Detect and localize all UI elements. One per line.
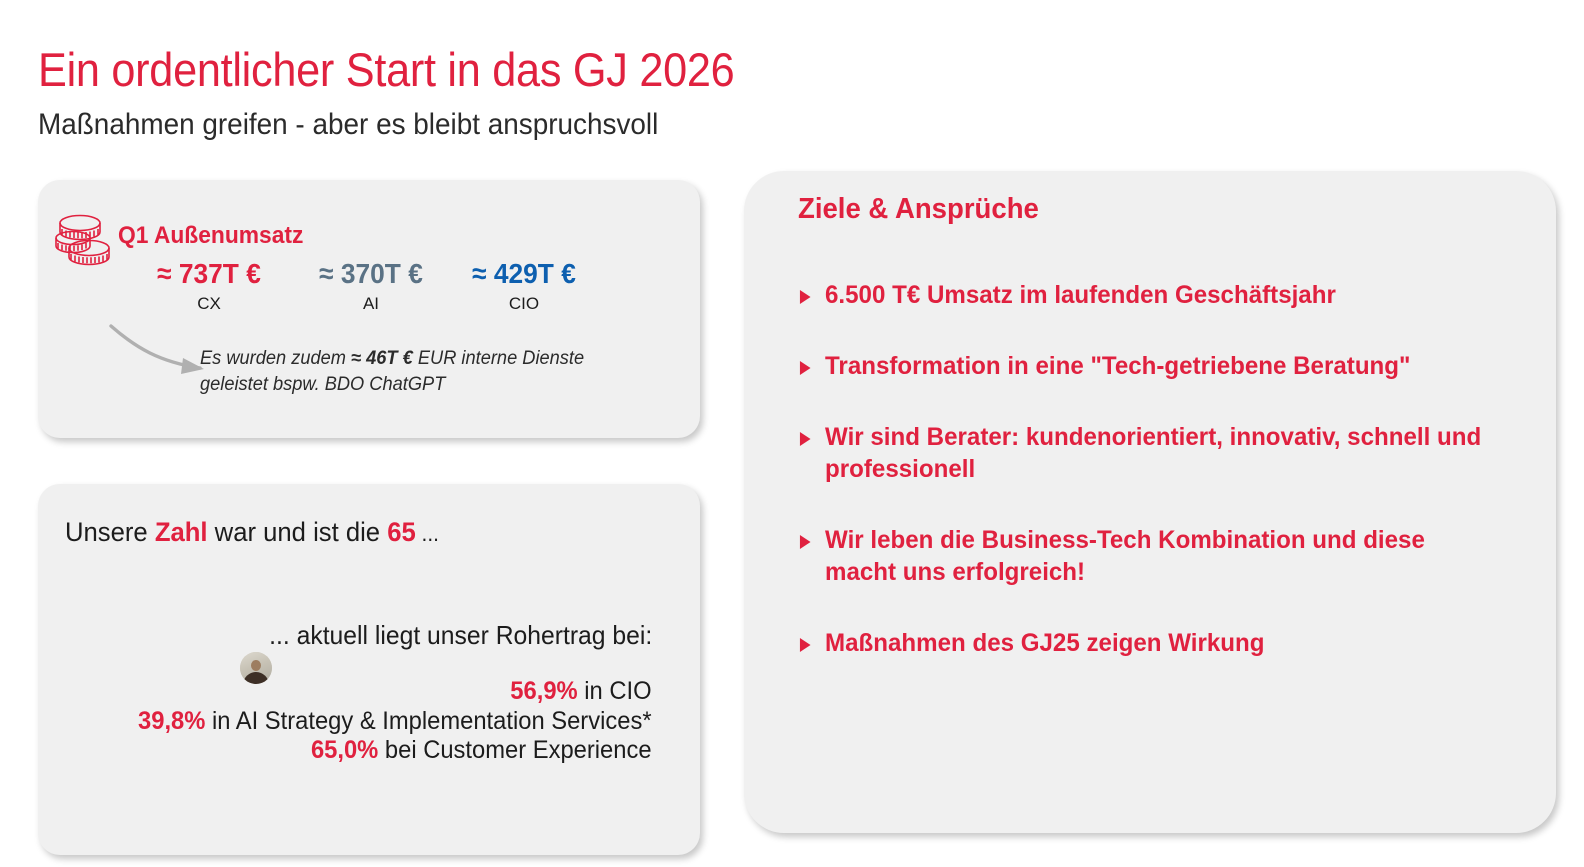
page-subtitle: Maßnahmen greifen - aber es bleibt anspr… [38,108,658,141]
number-statement-accent-65: 65 [387,517,416,547]
rohertrag-pct-cio: 56,9% [511,677,578,705]
triangle-bullet-icon [800,535,811,549]
rohertrag-lead: ... aktuell liegt unser Rohertrag bei: [269,620,652,651]
number-statement-part1: Unsere [65,517,155,547]
number-statement: Unsere Zahl war und ist die 65 ... [65,517,439,548]
goals-heading: Ziele & Ansprüche [798,193,1039,226]
kpi-cio-value: ≈ 429T € [444,258,604,290]
kpi-ai: ≈ 370T € AI [286,258,456,317]
rohertrag-label-cio: in CIO [578,677,652,705]
rohertrag-label-ai: in AI Strategy & Implementation Services… [206,707,652,735]
goal-item: 6.500 T€ Umsatz im laufenden Geschäftsja… [798,279,1502,311]
goal-item: Wir leben die Business-Tech Kombination … [798,524,1502,588]
coins-icon [52,210,118,272]
kpi-ai-value: ≈ 370T € [291,258,451,290]
revenue-note-amount: ≈ 46T € [351,348,413,369]
kpi-cio: ≈ 429T € CIO [439,258,609,317]
kpi-cx-value: ≈ 737T € [129,258,289,290]
rohertrag-label-cx: bei Customer Experience [379,736,652,764]
number-statement-part2: war und ist die [208,517,388,547]
goals-list: 6.500 T€ Umsatz im laufenden Geschäftsja… [798,279,1528,659]
goal-item-label: 6.500 T€ Umsatz im laufenden Geschäftsja… [825,281,1336,309]
kpi-cx: ≈ 737T € CX [124,258,294,317]
page-title: Ein ordentlicher Start in das GJ 2026 [38,45,734,94]
goal-item-label: Wir leben die Business-Tech Kombination … [825,526,1425,586]
kpi-ai-label: AI [286,290,456,317]
rohertrag-pct-cx: 65,0% [311,736,378,764]
number-statement-part3: ... [416,521,439,546]
number-card: Unsere Zahl war und ist die 65 ... ... a… [38,484,700,855]
number-statement-accent-zahl: Zahl [155,517,208,547]
rohertrag-item: 56,9% in CIO [138,677,652,707]
avatar-head [251,660,261,671]
triangle-bullet-icon [800,432,811,446]
rohertrag-pct-ai: 39,8% [138,707,205,735]
rohertrag-item: 39,8% in AI Strategy & Implementation Se… [138,707,652,737]
triangle-bullet-icon [800,638,811,652]
triangle-bullet-icon [800,290,811,304]
goal-item-label: Transformation in eine "Tech-getriebene … [825,352,1410,380]
kpi-cio-label: CIO [439,290,609,317]
goal-item-label: Wir sind Berater: kundenorientiert, inno… [825,423,1481,483]
goal-item: Transformation in eine "Tech-getriebene … [798,350,1502,382]
kpi-row: ≈ 737T € CX ≈ 370T € AI ≈ 429T € CIO [114,258,674,332]
rohertrag-item: 65,0% bei Customer Experience [138,736,652,766]
slide-root: Ein ordentlicher Start in das GJ 2026 Ma… [0,0,1584,867]
goals-card: Ziele & Ansprüche 6.500 T€ Umsatz im lau… [744,171,1556,833]
triangle-bullet-icon [800,361,811,375]
goal-item: Wir sind Berater: kundenorientiert, inno… [798,421,1502,485]
rohertrag-list: 56,9% in CIO 39,8% in AI Strategy & Impl… [111,677,652,766]
goal-item: Maßnahmen des GJ25 zeigen Wirkung [798,627,1502,659]
revenue-card: Q1 Außenumsatz ≈ 737T € CX ≈ 370T € AI ≈… [38,180,700,438]
revenue-note: Es wurden zudem ≈ 46T € EUR interne Dien… [200,346,651,397]
goal-item-label: Maßnahmen des GJ25 zeigen Wirkung [825,629,1264,657]
kpi-cx-label: CX [124,290,294,317]
revenue-note-pre: Es wurden zudem [200,348,351,369]
revenue-heading: Q1 Außenumsatz [118,222,303,250]
